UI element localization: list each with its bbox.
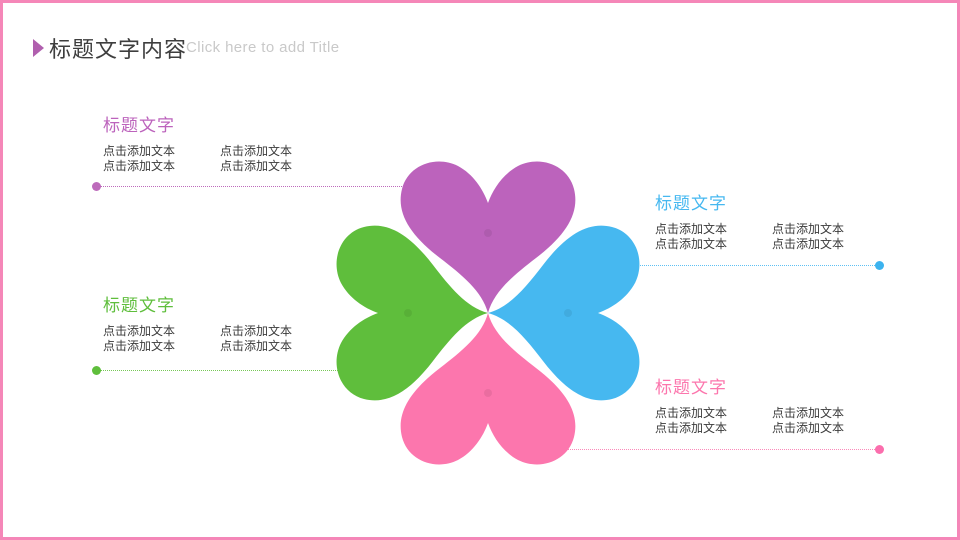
info-cell: 点击添加文本 <box>655 222 745 237</box>
info-block-title-purple: 标题文字 <box>103 111 363 136</box>
page-title: 标题文字内容 <box>49 32 187 64</box>
info-cell: 点击添加文本 <box>655 237 745 252</box>
info-block-blue[interactable]: 标题文字 点击添加文本 点击添加文本 点击添加文本 点击添加文本 <box>655 189 915 252</box>
info-cell: 点击添加文本 <box>103 144 193 159</box>
info-cell: 点击添加文本 <box>772 421 862 436</box>
info-block-body-purple: 点击添加文本 点击添加文本 点击添加文本 点击添加文本 <box>103 144 363 174</box>
info-block-title-blue: 标题文字 <box>655 189 915 214</box>
play-triangle-icon <box>33 39 44 57</box>
info-cell: 点击添加文本 <box>220 339 310 354</box>
connector-dot-blue <box>875 261 884 270</box>
info-cell: 点击添加文本 <box>220 144 310 159</box>
info-row: 点击添加文本 点击添加文本 <box>655 421 915 436</box>
anchor-dot-blue <box>564 309 572 317</box>
connector-dot-green <box>92 366 101 375</box>
info-cell: 点击添加文本 <box>103 339 193 354</box>
connector-dot-pink <box>875 445 884 454</box>
info-row: 点击添加文本 点击添加文本 <box>103 159 363 174</box>
info-row: 点击添加文本 点击添加文本 <box>103 144 363 159</box>
info-block-body-pink: 点击添加文本 点击添加文本 点击添加文本 点击添加文本 <box>655 406 915 436</box>
info-row: 点击添加文本 点击添加文本 <box>103 339 363 354</box>
info-cell: 点击添加文本 <box>220 159 310 174</box>
slide-header: 标题文字内容 Click here to add Title <box>3 25 957 65</box>
info-block-green[interactable]: 标题文字 点击添加文本 点击添加文本 点击添加文本 点击添加文本 <box>103 291 363 354</box>
info-cell: 点击添加文本 <box>772 237 862 252</box>
anchor-dot-pink <box>484 389 492 397</box>
four-heart-clover-graphic <box>323 153 653 473</box>
info-block-pink[interactable]: 标题文字 点击添加文本 点击添加文本 点击添加文本 点击添加文本 <box>655 373 915 436</box>
info-cell: 点击添加文本 <box>103 159 193 174</box>
info-cell: 点击添加文本 <box>655 421 745 436</box>
info-row: 点击添加文本 点击添加文本 <box>655 222 915 237</box>
info-cell: 点击添加文本 <box>772 406 862 421</box>
info-cell: 点击添加文本 <box>103 324 193 339</box>
info-row: 点击添加文本 点击添加文本 <box>655 237 915 252</box>
info-cell: 点击添加文本 <box>772 222 862 237</box>
connector-dot-purple <box>92 182 101 191</box>
page-subtitle: Click here to add Title <box>186 39 339 56</box>
anchor-dot-purple <box>484 229 492 237</box>
info-row: 点击添加文本 点击添加文本 <box>103 324 363 339</box>
info-cell: 点击添加文本 <box>655 406 745 421</box>
slide-canvas: 标题文字内容 Click here to add Title <box>0 0 960 540</box>
info-block-purple[interactable]: 标题文字 点击添加文本 点击添加文本 点击添加文本 点击添加文本 <box>103 111 363 174</box>
anchor-dot-green <box>404 309 412 317</box>
info-block-title-pink: 标题文字 <box>655 373 915 398</box>
info-row: 点击添加文本 点击添加文本 <box>655 406 915 421</box>
info-block-title-green: 标题文字 <box>103 291 363 316</box>
info-block-body-green: 点击添加文本 点击添加文本 点击添加文本 点击添加文本 <box>103 324 363 354</box>
info-block-body-blue: 点击添加文本 点击添加文本 点击添加文本 点击添加文本 <box>655 222 915 252</box>
info-cell: 点击添加文本 <box>220 324 310 339</box>
